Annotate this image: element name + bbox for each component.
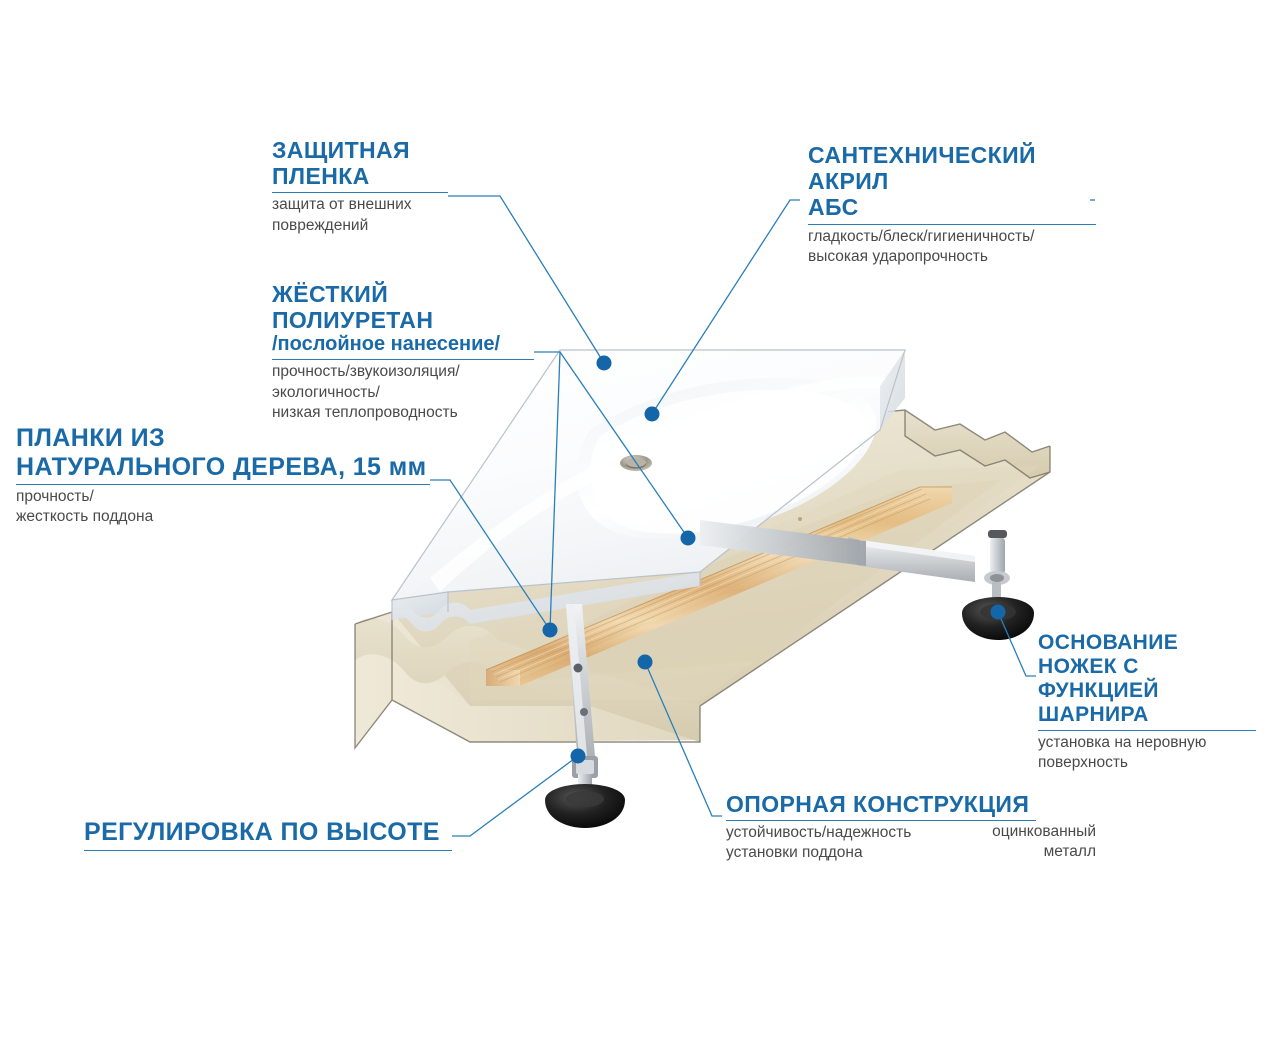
callout-natural-wood-slats: ПЛАНКИ ИЗ НАТУРАЛЬНОГО ДЕРЕВА, 15 мм про… bbox=[16, 424, 430, 527]
callout-rigid-polyurethane-emphasis: /послойное нанесение/ bbox=[272, 333, 534, 356]
callout-leg-base-hinge-subtitle: установка на неровную поверхность bbox=[1038, 733, 1256, 773]
leg-adjust-hole bbox=[574, 664, 583, 673]
callout-rule bbox=[1038, 730, 1256, 731]
callout-protective-film-subtitle: защита от внешних повреждений bbox=[272, 195, 448, 235]
callout-rigid-polyurethane: ЖЁСТКИЙ ПОЛИУРЕТАН /послойное нанесение/… bbox=[272, 281, 534, 423]
callout-sanitary-acrylic-heading: САНТЕХНИЧЕСКИЙ АКРИЛ АБС bbox=[808, 142, 1096, 221]
callout-protective-film-heading: ЗАЩИТНАЯ ПЛЕНКА bbox=[272, 137, 448, 189]
callout-sanitary-acrylic: САНТЕХНИЧЕСКИЙ АКРИЛ АБС гладкость/блеск… bbox=[808, 142, 1096, 267]
callout-leg-base-hinge-heading: ОСНОВАНИЕ НОЖЕК С ФУНКЦИЕЙ ШАРНИРА bbox=[1038, 631, 1256, 727]
callout-rule bbox=[808, 224, 1096, 225]
callout-protective-film: ЗАЩИТНАЯ ПЛЕНКА защита от внешних повреж… bbox=[272, 137, 448, 236]
adjustable-leg-right bbox=[962, 530, 1034, 640]
diagram-canvas: ЗАЩИТНАЯ ПЛЕНКА защита от внешних повреж… bbox=[0, 0, 1280, 1048]
callout-rule bbox=[16, 484, 430, 485]
callout-rule bbox=[84, 850, 452, 851]
callout-support-structure-heading: ОПОРНАЯ КОНСТРУКЦИЯ bbox=[726, 791, 1036, 817]
callout-galvanized-metal-subtitle: оцинкованный металл bbox=[960, 822, 1096, 862]
leg-threaded-rod bbox=[990, 536, 1005, 576]
callout-sanitary-acrylic-subtitle: гладкость/блеск/гигиеничность/ высокая у… bbox=[808, 227, 1096, 267]
callout-rigid-polyurethane-subtitle: прочность/звукоизоляция/ экологичность/ … bbox=[272, 362, 534, 422]
callout-natural-wood-slats-heading: ПЛАНКИ ИЗ НАТУРАЛЬНОГО ДЕРЕВА, 15 мм bbox=[16, 424, 430, 481]
callout-height-adjustment: РЕГУЛИРОВКА ПО ВЫСОТЕ bbox=[84, 818, 452, 853]
callout-rule bbox=[272, 359, 534, 360]
callout-natural-wood-slats-subtitle: прочность/ жесткость поддона bbox=[16, 487, 430, 527]
callout-galvanized-metal: оцинкованный металл bbox=[960, 822, 1096, 862]
callout-leg-base-hinge: ОСНОВАНИЕ НОЖЕК С ФУНКЦИЕЙ ШАРНИРА устан… bbox=[1038, 631, 1256, 773]
adjustable-leg-left bbox=[545, 756, 625, 828]
callout-height-adjustment-heading: РЕГУЛИРОВКА ПО ВЫСОТЕ bbox=[84, 818, 452, 847]
callout-rule bbox=[272, 192, 448, 193]
callout-rigid-polyurethane-heading: ЖЁСТКИЙ ПОЛИУРЕТАН bbox=[272, 281, 534, 333]
